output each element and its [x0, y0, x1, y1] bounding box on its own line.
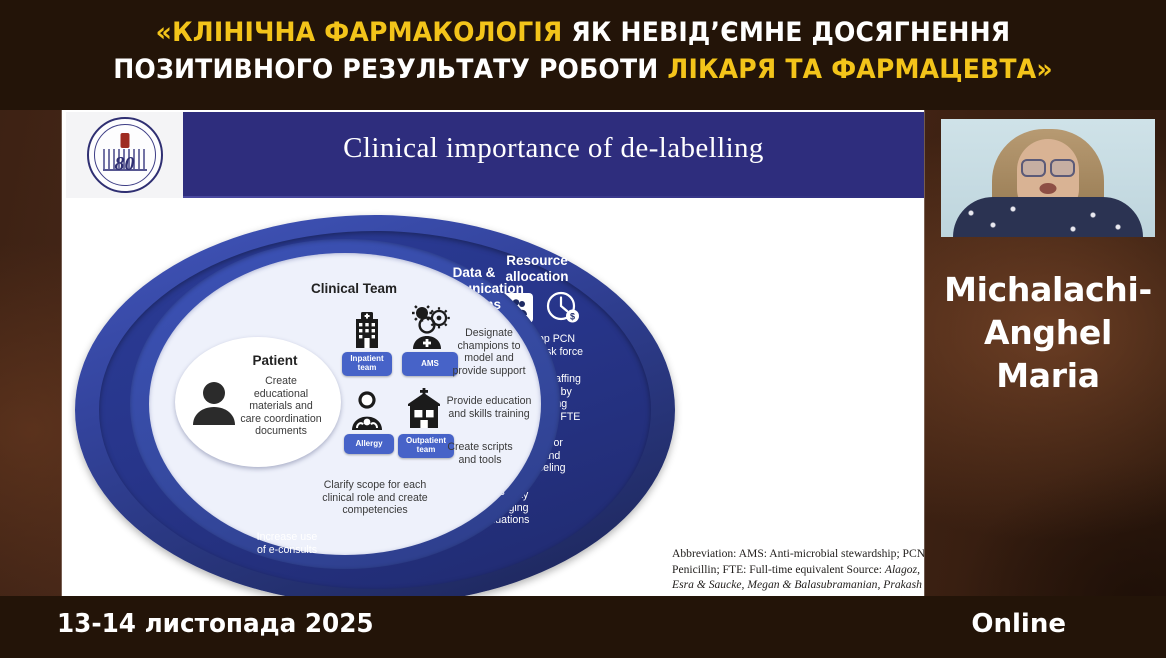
speaker-webcam[interactable]: [941, 119, 1155, 237]
data-item-5: Increase useof e-consults: [219, 531, 355, 556]
ring-outer: Resourceallocation $: [75, 215, 675, 599]
presentation-slide: 80 Clinical importance of de-labelling R…: [62, 110, 924, 599]
slide-logo-box: 80: [66, 112, 183, 198]
slide-header-band: Clinical importance of de-labelling: [183, 112, 924, 196]
title-line-1: «КЛІНІЧНА ФАРМАКОЛОГІЯ ЯК НЕВІД’ЄМНЕ ДОС…: [41, 14, 1125, 51]
clinical-item-4: Clarify scope for eachclinical role and …: [287, 479, 463, 517]
svg-text:$: $: [570, 311, 575, 321]
ring-mid: Data &communicationsystems: [130, 239, 560, 569]
clinical-item-3: Create scriptsand tools: [425, 441, 535, 466]
title-wrap: «КЛІНІЧНА ФАРМАКОЛОГІЯ ЯК НЕВІД’ЄМНЕ ДОС…: [0, 14, 1166, 88]
patient-body: Createeducationalmaterials andcare coord…: [229, 375, 333, 438]
chip-inpatient-team[interactable]: Inpatientteam: [342, 352, 392, 376]
seal-anniversary-number: 80: [115, 153, 135, 176]
citation-block: Abbreviation: AMS: Anti-microbial stewar…: [672, 546, 924, 599]
title-highlight-1: КЛІНІЧНА ФАРМАКОЛОГІЯ: [172, 17, 562, 48]
university-seal-logo: 80: [87, 117, 163, 193]
title-plain-2: ПОЗИТИВНОГО РЕЗУЛЬТАТУ РОБОТИ: [113, 54, 667, 85]
speaker-torso: [953, 197, 1143, 237]
clinical-item-1: Designatechampions tomodel andprovide su…: [431, 327, 547, 377]
group-heading-clinical-team: Clinical Team: [279, 281, 429, 297]
title-banner: «КЛІНІЧНА ФАРМАКОЛОГІЯ ЯК НЕВІД’ЄМНЕ ДОС…: [0, 0, 1166, 110]
speaker-name: Michalachi- Anghel Maria: [941, 268, 1155, 397]
speaker-name-line-1: Michalachi-: [941, 268, 1155, 311]
allergy-nurse-icon: [348, 390, 386, 432]
title-highlight-2: ЛІКАРЯ ТА ФАРМАЦЕВТА: [667, 54, 1036, 85]
speaker-name-line-3: Maria: [941, 354, 1155, 397]
title-quote-close: »: [1036, 54, 1052, 85]
citation-source-label: Source:: [847, 563, 885, 576]
chip-allergy[interactable]: Allergy: [344, 434, 394, 454]
title-line-2: ПОЗИТИВНОГО РЕЗУЛЬТАТУ РОБОТИ ЛІКАРЯ ТА …: [41, 51, 1125, 88]
ring-inner: Clinical Team: [149, 253, 541, 555]
speaker-mouth: [1040, 183, 1057, 194]
speaker-name-line-2: Anghel: [941, 311, 1155, 354]
shirt-pattern: [953, 197, 1143, 237]
title-plain-1: ЯК НЕВІД’ЄМНЕ ДОСЯГНЕННЯ: [562, 17, 1010, 48]
footer-bar: 13-14 листопада 2025 Online: [0, 596, 1166, 658]
patient-heading: Patient: [221, 353, 329, 369]
event-mode: Online: [971, 609, 1066, 639]
clock-dollar-icon: $: [545, 291, 581, 325]
slide-body: Resourceallocation $: [62, 198, 924, 599]
title-quote-open: «: [156, 17, 172, 48]
event-date: 13-14 листопада 2025: [57, 609, 374, 639]
slide-title: Clinical importance of de-labelling: [183, 132, 924, 165]
seal-tower-icon: [120, 133, 129, 148]
hospital-building-icon: [350, 310, 384, 350]
glasses-icon: [1021, 159, 1075, 173]
webinar-screenshot: «КЛІНІЧНА ФАРМАКОЛОГІЯ ЯК НЕВІД’ЄМНЕ ДОС…: [0, 0, 1166, 658]
clinical-item-2: Provide educationand skills training: [427, 395, 551, 420]
patient-core: Patient Createeducationalmaterials andca…: [175, 337, 341, 467]
